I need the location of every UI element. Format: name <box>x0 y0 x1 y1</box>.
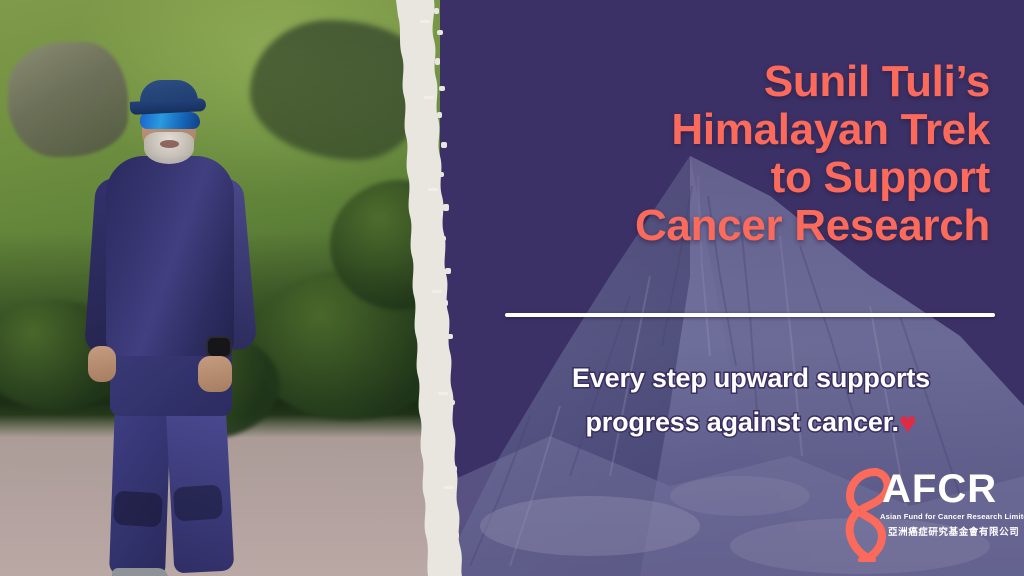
headline-line-4: Cancer Research <box>470 202 990 250</box>
hiker-beard <box>144 132 194 164</box>
logo-tagline: Asian Fund for Cancer Research Limited <box>880 512 1010 521</box>
hiker-right-hand <box>198 356 232 392</box>
hiker-mouth <box>160 140 179 148</box>
wristwatch-icon <box>206 336 232 358</box>
hiker-left-leg <box>109 403 171 576</box>
headline: Sunil Tuli’s Himalayan Trek to Support C… <box>470 58 990 250</box>
hiker-left-knee <box>113 490 163 527</box>
divider-rule <box>505 313 995 317</box>
hiker-photo-panel <box>0 0 470 576</box>
afcr-logo: AFCR Asian Fund for Cancer Research Limi… <box>840 462 1010 562</box>
subtitle-line-1: Every step upward supports <box>505 356 997 400</box>
hiker-torso <box>106 156 234 356</box>
hiker-figure <box>78 74 258 576</box>
heart-icon: ♥ <box>899 402 917 446</box>
subtitle-line-2: progress against cancer.♥ <box>505 400 997 446</box>
hiker-right-knee <box>173 484 223 521</box>
promo-banner: Sunil Tuli’s Himalayan Trek to Support C… <box>0 0 1024 576</box>
headline-line-2: Himalayan Trek <box>470 106 990 154</box>
logo-wordmark: AFCR <box>882 468 997 510</box>
subtitle-line-2-text: progress against cancer. <box>586 407 899 437</box>
headline-line-3: to Support <box>470 154 990 202</box>
sunglasses-icon <box>140 112 200 129</box>
hiker-shoe <box>112 568 168 576</box>
subtitle: Every step upward supports progress agai… <box>505 356 997 446</box>
logo-chinese-name: 亞洲癌症研究基金會有限公司 <box>888 524 1012 538</box>
headline-line-1: Sunil Tuli’s <box>470 58 990 106</box>
hiker-left-hand <box>88 346 116 382</box>
